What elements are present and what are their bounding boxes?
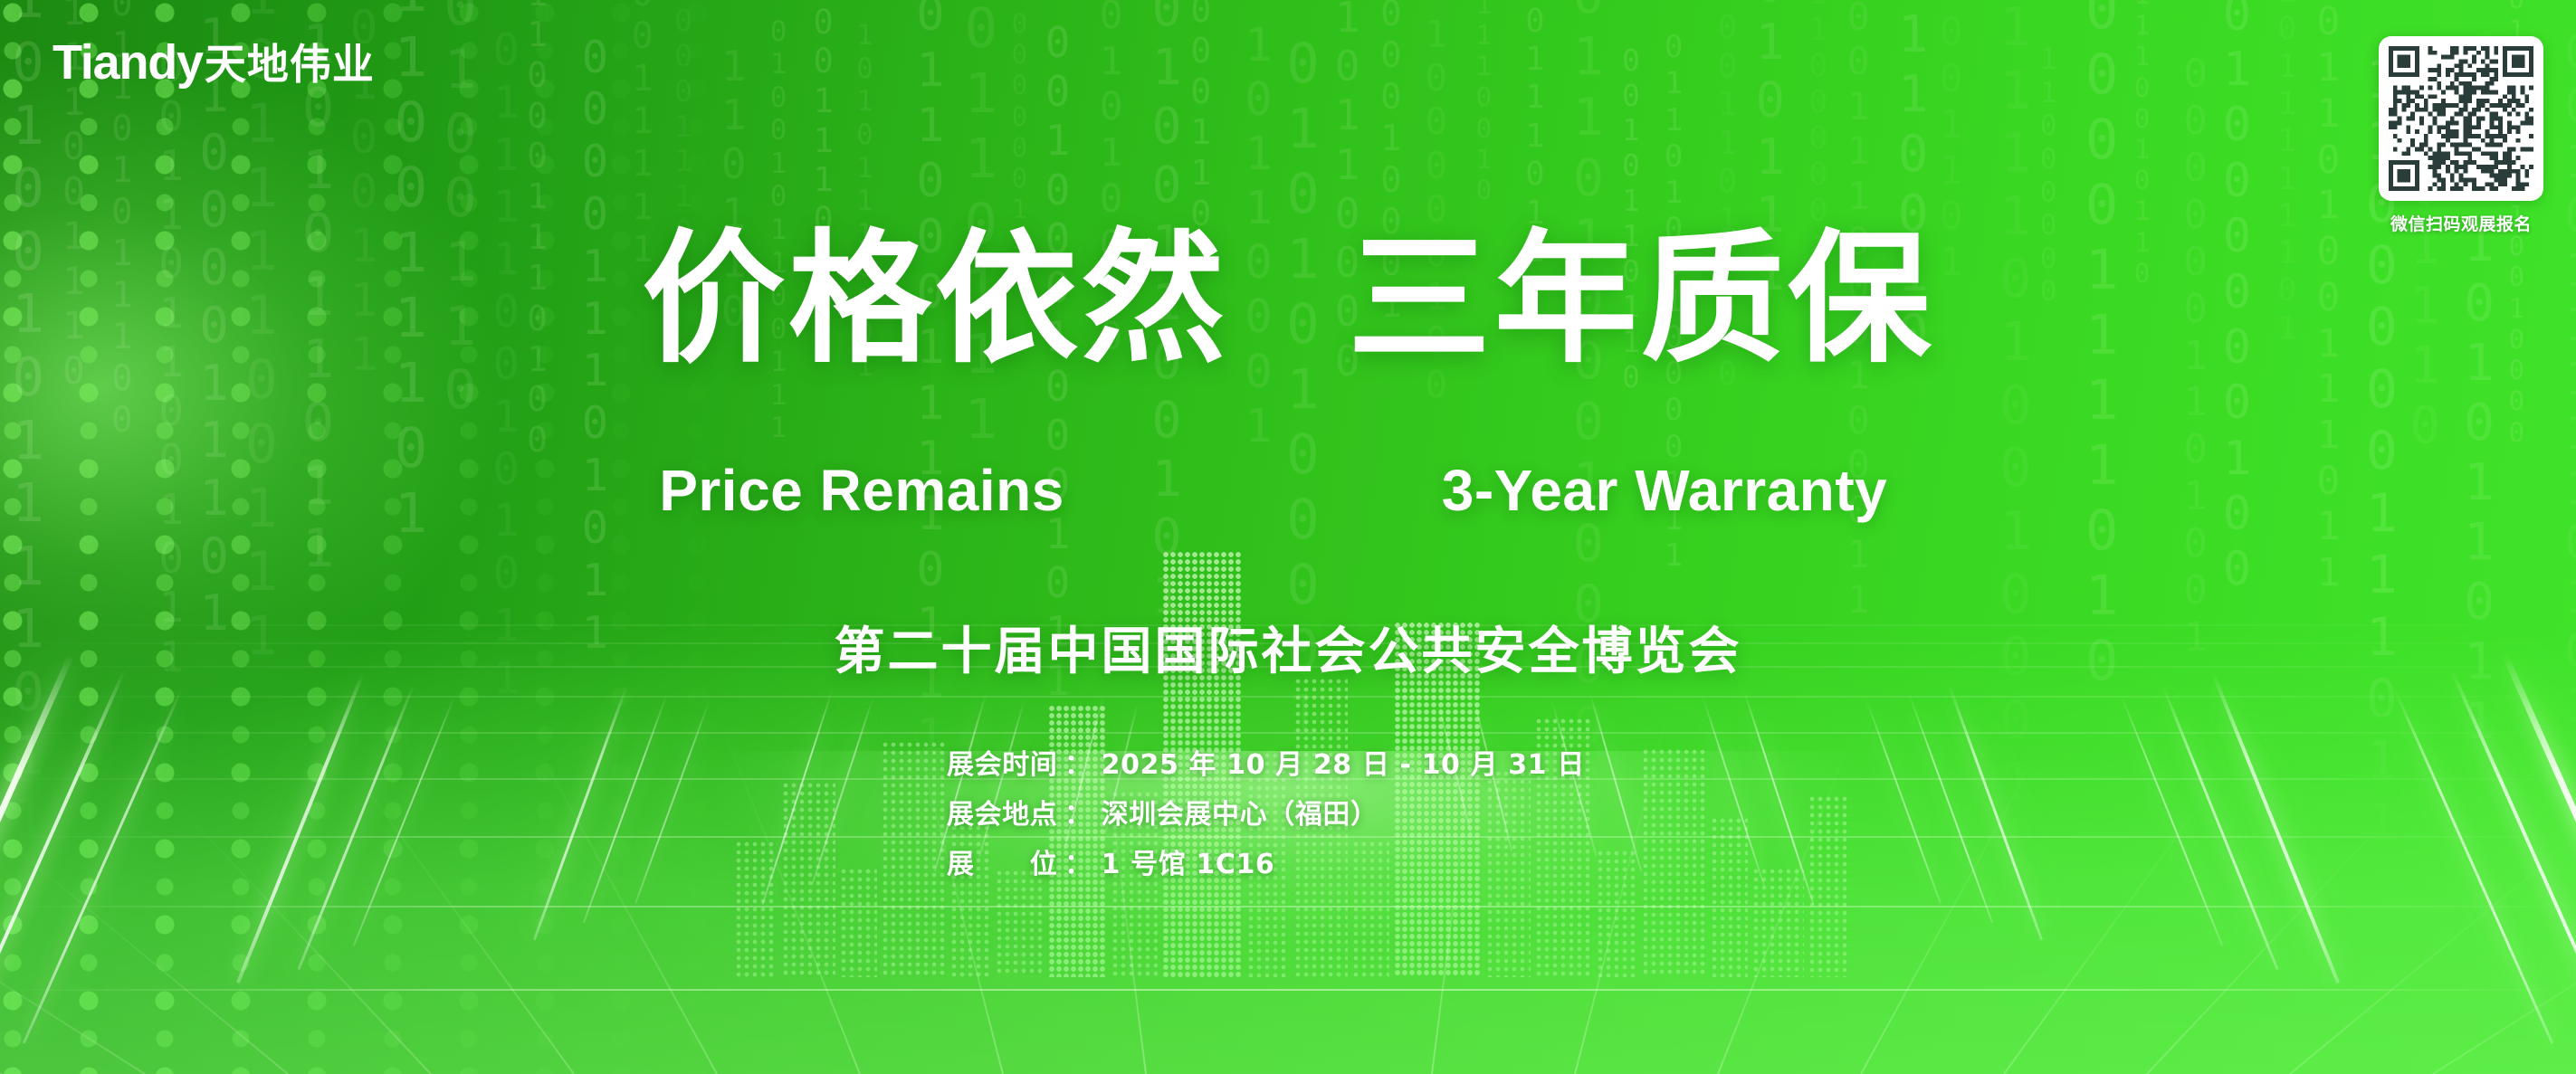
- expo-detail-row: 展会地点：深圳会展中心（福田）: [947, 792, 1585, 832]
- expo-detail-separator: ：: [1064, 841, 1102, 881]
- subheadline-row: Price Remains 3-Year Warranty: [581, 461, 1995, 519]
- expo-detail-separator: ：: [1064, 792, 1102, 832]
- subheadline-left-en: Price Remains: [581, 461, 1142, 519]
- expo-detail-row: 展会时间：2025 年 10 月 28 日 - 10 月 31 日: [947, 742, 1585, 782]
- banner-copy: 价格依然 三年质保 Price Remains 3-Year Warranty …: [0, 0, 2576, 1074]
- headline-left-cn: 价格依然: [642, 228, 1228, 371]
- expo-detail-value: 深圳会展中心（福田）: [1102, 792, 1379, 832]
- headline-row: 价格依然 三年质保: [642, 228, 1934, 371]
- expo-detail-row: 展 位：1 号馆 1C16: [947, 841, 1585, 881]
- subheadline-right-en: 3-Year Warranty: [1334, 461, 1995, 519]
- expo-detail-label: 展会地点: [947, 792, 1064, 832]
- expo-details: 展会时间：2025 年 10 月 28 日 - 10 月 31 日展会地点：深圳…: [947, 742, 1585, 881]
- expo-detail-value: 2025 年 10 月 28 日 - 10 月 31 日: [1102, 742, 1585, 782]
- expo-detail-label: 展会时间: [947, 742, 1064, 782]
- headline-right-cn: 三年质保: [1348, 228, 1934, 371]
- expo-detail-value: 1 号馆 1C16: [1102, 841, 1275, 881]
- expo-detail-label: 展 位: [947, 841, 1064, 881]
- promo-banner: 1 0 1 0 0 1 0 1 1 1 1 0 1 1 1 1 1 0 0 1 …: [0, 0, 2576, 1074]
- expo-title: 第二十届中国国际社会公共安全博览会: [835, 624, 1742, 680]
- expo-detail-separator: ：: [1064, 742, 1102, 782]
